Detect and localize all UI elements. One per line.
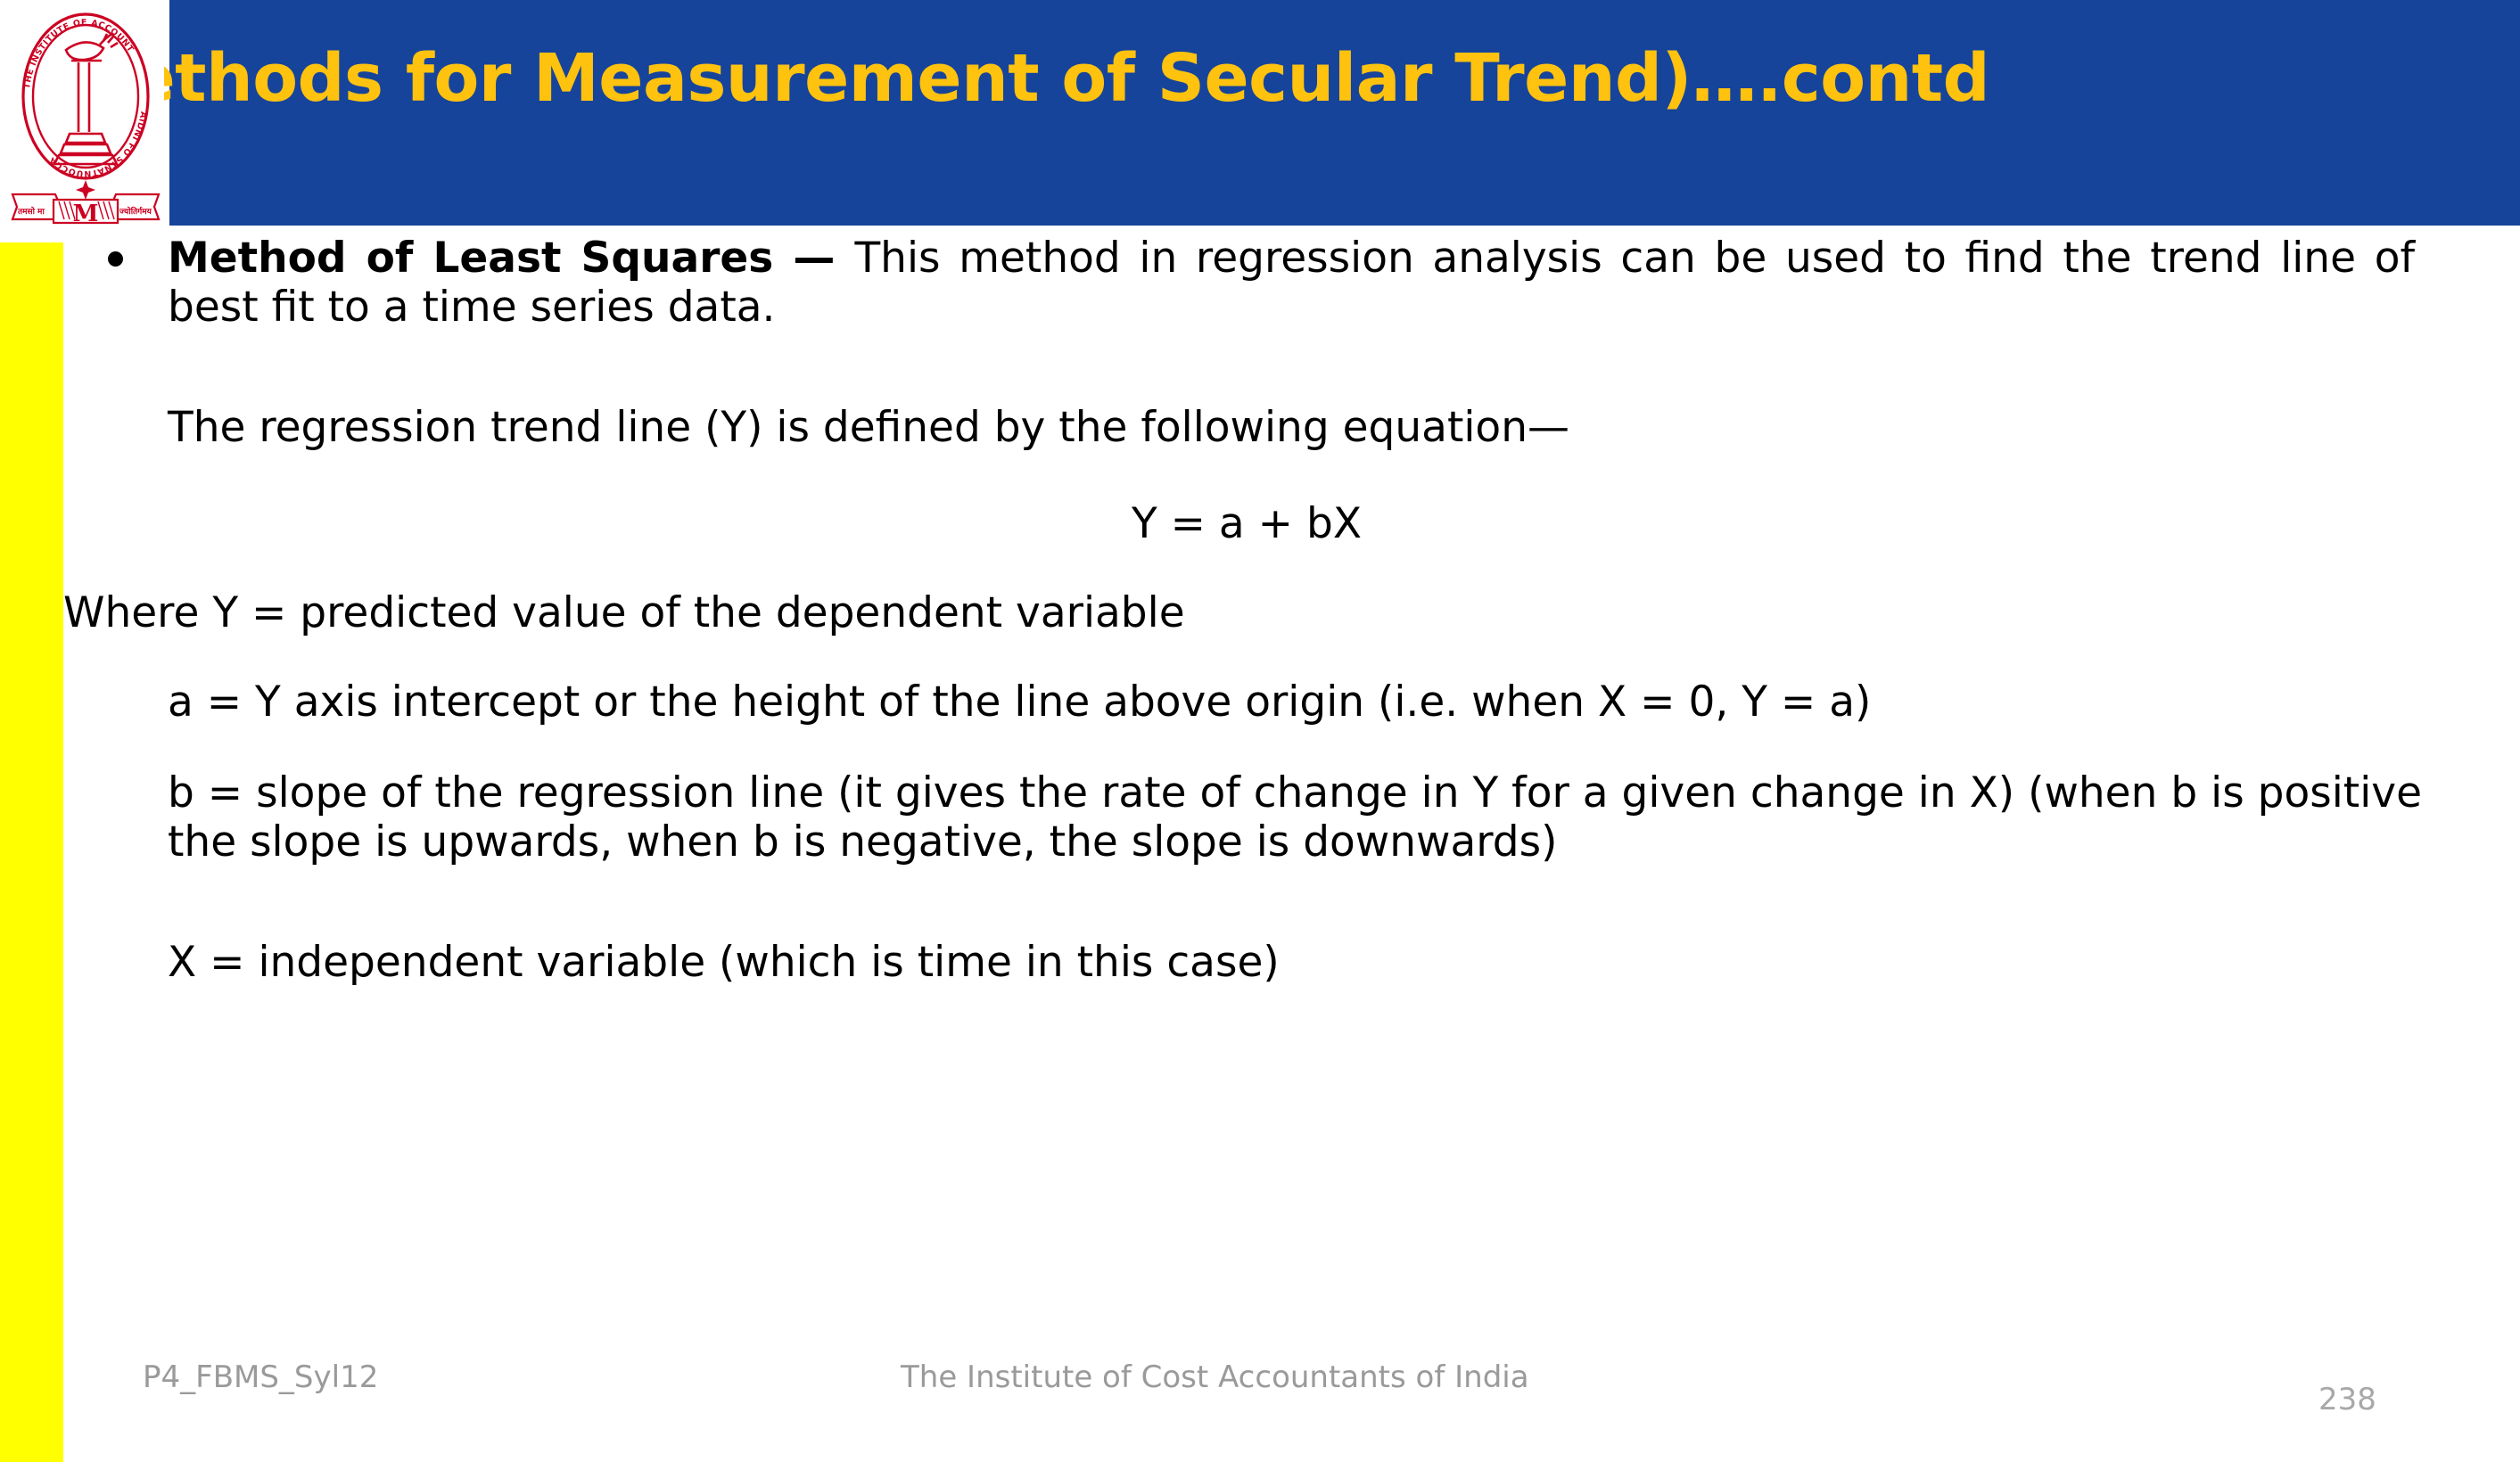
footer-course-code: P4_FBMS_Syl12 bbox=[143, 1359, 378, 1395]
svg-text:ज्योतिर्गमय: ज्योतिर्गमय bbox=[119, 206, 152, 217]
definition-x: X = independent variable (which is time … bbox=[168, 938, 2415, 987]
footer-page-number: 238 bbox=[2318, 1382, 2376, 1417]
seal-icon: THE INSTITUTE OF ACCOUNT AIDNI FO STNATN… bbox=[7, 2, 164, 226]
where-y-definition: Where Y = predicted value of the depende… bbox=[63, 588, 2417, 637]
definition-b: b = slope of the regression line (it giv… bbox=[168, 768, 2422, 867]
slide-body: Method of Least Squares — This method in… bbox=[63, 234, 2520, 1303]
regression-equation: Y = a + bX bbox=[168, 499, 2326, 548]
svg-text:तमसो मा: तमसो मा bbox=[17, 206, 45, 217]
bullet-item-least-squares: Method of Least Squares — This method in… bbox=[63, 234, 2462, 332]
bullet-dot-icon bbox=[108, 251, 123, 267]
bullet-lead-label: Method of Least Squares — bbox=[168, 234, 854, 283]
bullet-item-text: Method of Least Squares — This method in… bbox=[168, 234, 2415, 332]
definition-a: a = Y axis intercept or the height of th… bbox=[168, 678, 2424, 727]
regression-definition-line: The regression trend line (Y) is defined… bbox=[168, 403, 2415, 452]
svg-text:M: M bbox=[73, 201, 99, 226]
institute-seal-logo: THE INSTITUTE OF ACCOUNT AIDNI FO STNATN… bbox=[7, 2, 164, 226]
footer-institute-name: The Institute of Cost Accountants of Ind… bbox=[901, 1359, 1529, 1395]
page-title: (Methods for Measurement of Secular Tren… bbox=[36, 43, 2318, 115]
left-accent-stripe bbox=[0, 242, 63, 1462]
slide-root: (Methods for Measurement of Secular Tren… bbox=[0, 0, 2520, 1462]
